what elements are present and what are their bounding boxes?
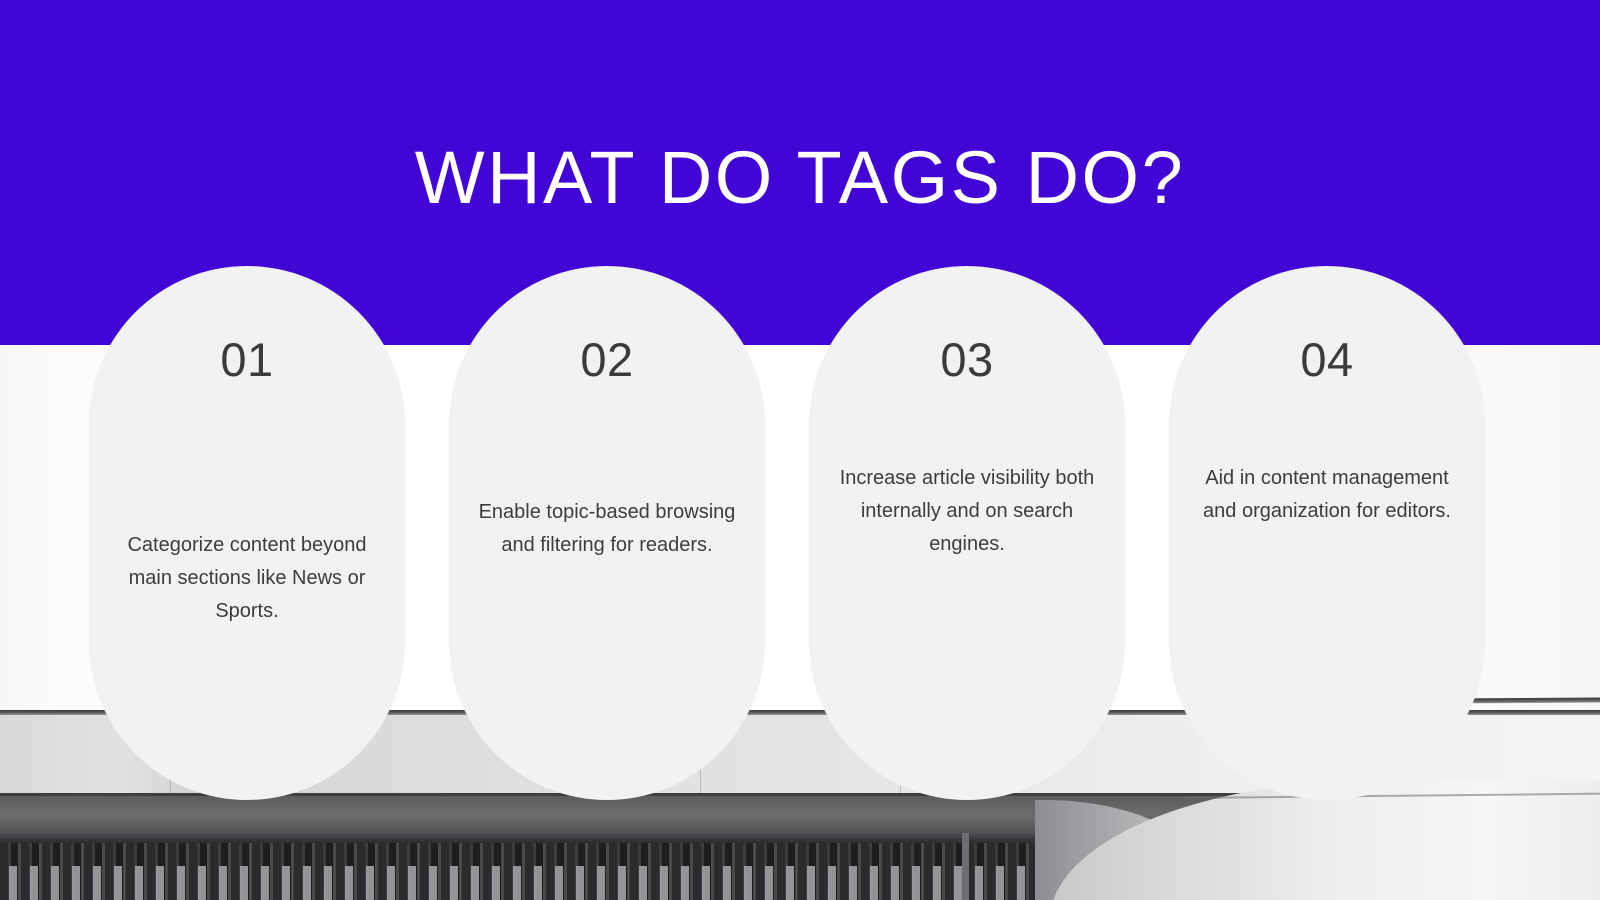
- card-03[interactable]: 03 Increase article visibility both inte…: [809, 266, 1125, 800]
- card-number: 02: [580, 336, 633, 383]
- card-description: Increase article visibility both interna…: [833, 462, 1101, 562]
- presentation-slide: WHAT DO TAGS DO? 01 Categorize content b…: [0, 0, 1600, 900]
- card-description: Enable topic-based browsing and filterin…: [473, 496, 741, 562]
- card-number: 04: [1300, 336, 1353, 383]
- photo-colonnade-header: [0, 833, 1180, 843]
- card-description: Aid in content management and organizati…: [1193, 462, 1461, 528]
- card-number: 03: [940, 336, 993, 383]
- card-04[interactable]: 04 Aid in content management and organiz…: [1169, 266, 1485, 800]
- card-list: 01 Categorize content beyond main sectio…: [89, 266, 1485, 800]
- card-01[interactable]: 01 Categorize content beyond main sectio…: [89, 266, 405, 800]
- photo-colonnade-highlight: [0, 866, 1180, 900]
- card-description: Categorize content beyond main sections …: [113, 529, 381, 629]
- page-title: WHAT DO TAGS DO?: [0, 141, 1600, 215]
- card-number: 01: [220, 336, 273, 383]
- photo-colonnade-gap: [962, 833, 969, 900]
- card-02[interactable]: 02 Enable topic-based browsing and filte…: [449, 266, 765, 800]
